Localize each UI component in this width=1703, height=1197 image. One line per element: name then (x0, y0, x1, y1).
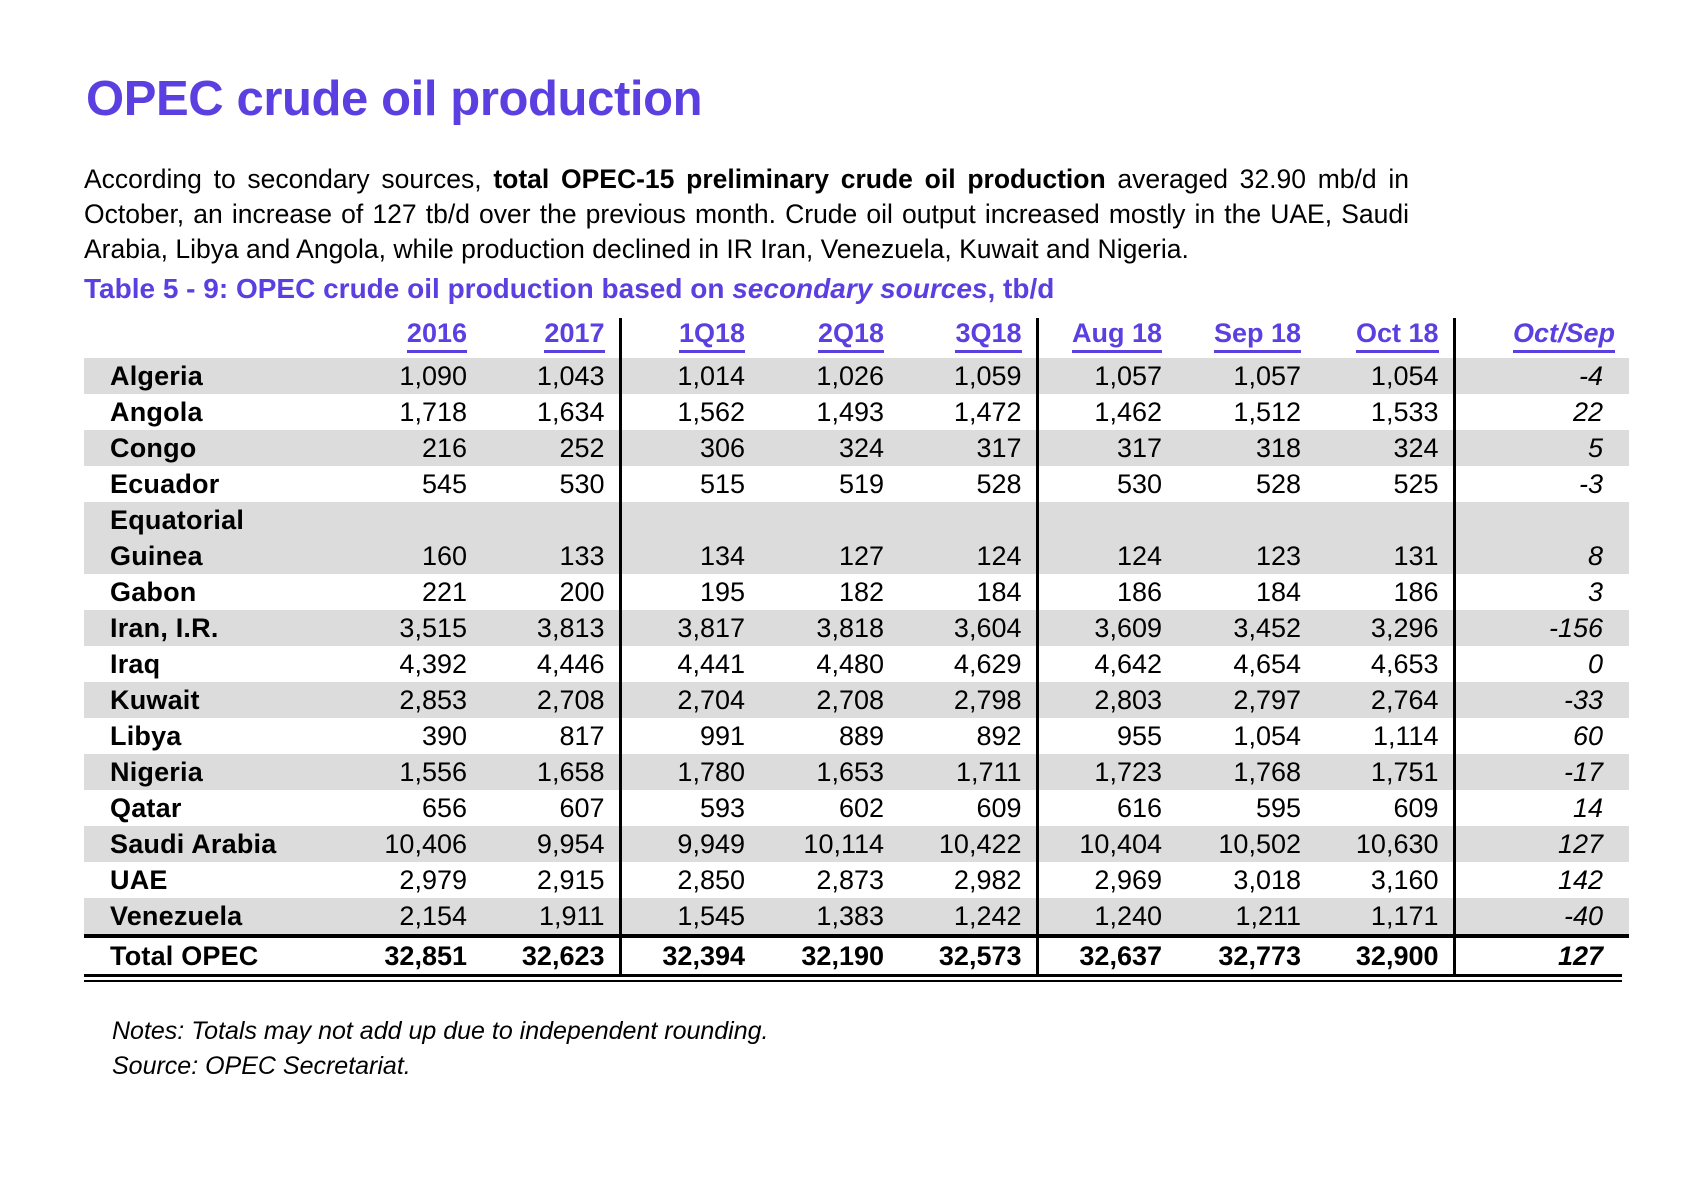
cell-value: 1,718 (342, 394, 481, 430)
cell-value: 1,780 (620, 754, 759, 790)
cell-value: 4,441 (620, 646, 759, 682)
table-row: Congo2162523063243173173183245 (84, 430, 1629, 466)
cell-value: 131 (1315, 538, 1454, 574)
cell-value: 616 (1037, 790, 1176, 826)
cell-value: 3,817 (620, 610, 759, 646)
cell-value: 317 (898, 430, 1037, 466)
cell-delta: -3 (1454, 466, 1629, 502)
table-caption: Table 5 - 9: OPEC crude oil production b… (84, 273, 1054, 305)
table-caption-italic: secondary sources (732, 273, 987, 304)
cell-value: 1,114 (1315, 718, 1454, 754)
table-row: Venezuela2,1541,9111,5451,3831,2421,2401… (84, 898, 1629, 936)
table-header-row: 2016 2017 1Q18 2Q18 3Q18 Aug 18 Sep 18 O… (84, 318, 1629, 358)
cell-total-value: 32,190 (759, 936, 898, 974)
cell-value: 595 (1176, 790, 1315, 826)
cell-value: 2,979 (342, 862, 481, 898)
cell-value: 1,653 (759, 754, 898, 790)
cell-total-value: 32,637 (1037, 936, 1176, 974)
table-row: Ecuador545530515519528530528525-3 (84, 466, 1629, 502)
col-header-2q18: 2Q18 (759, 318, 898, 358)
cell-value: 2,154 (342, 898, 481, 936)
cell-value: 10,422 (898, 826, 1037, 862)
table-row: Gabon2212001951821841861841863 (84, 574, 1629, 610)
cell-total-value: 32,773 (1176, 936, 1315, 974)
cell-value: 2,764 (1315, 682, 1454, 718)
cell-value: 1,043 (481, 358, 620, 394)
cell-value: 1,054 (1315, 358, 1454, 394)
cell-value (481, 502, 620, 538)
notes-line-1: Notes: Totals may not add up due to inde… (112, 1014, 769, 1049)
col-header-3q18: 3Q18 (898, 318, 1037, 358)
cell-value: 609 (898, 790, 1037, 826)
table-row: Saudi Arabia10,4069,9549,94910,11410,422… (84, 826, 1629, 862)
cell-delta: 60 (1454, 718, 1629, 754)
col-header-oct18: Oct 18 (1315, 318, 1454, 358)
cell-delta: 5 (1454, 430, 1629, 466)
cell-value: 124 (898, 538, 1037, 574)
production-table-container: 2016 2017 1Q18 2Q18 3Q18 Aug 18 Sep 18 O… (84, 318, 1622, 974)
cell-country-name: Kuwait (84, 682, 342, 718)
notes-line-2: Source: OPEC Secretariat. (112, 1049, 769, 1084)
cell-value: 1,057 (1037, 358, 1176, 394)
document-page: OPEC crude oil production According to s… (0, 0, 1703, 1197)
cell-value: 184 (898, 574, 1037, 610)
cell-value: 2,873 (759, 862, 898, 898)
cell-value: 216 (342, 430, 481, 466)
cell-value: 889 (759, 718, 898, 754)
cell-value: 1,057 (1176, 358, 1315, 394)
cell-value (1315, 502, 1454, 538)
cell-value: 515 (620, 466, 759, 502)
table-bottom-rule-secondary (84, 980, 1622, 982)
cell-value: 127 (759, 538, 898, 574)
cell-value: 4,653 (1315, 646, 1454, 682)
intro-text-bold: total OPEC-15 preliminary crude oil prod… (493, 164, 1105, 194)
cell-value: 10,406 (342, 826, 481, 862)
cell-value: 324 (1315, 430, 1454, 466)
cell-value: 184 (1176, 574, 1315, 610)
cell-value: 2,708 (481, 682, 620, 718)
table-row: Iran, I.R.3,5153,8133,8173,8183,6043,609… (84, 610, 1629, 646)
cell-delta: 142 (1454, 862, 1629, 898)
table-row: Libya3908179918898929551,0541,11460 (84, 718, 1629, 754)
col-header-sep18: Sep 18 (1176, 318, 1315, 358)
cell-country-name: Equatorial (84, 502, 342, 538)
cell-value: 124 (1037, 538, 1176, 574)
cell-value: 9,949 (620, 826, 759, 862)
cell-value: 1,562 (620, 394, 759, 430)
cell-value (342, 502, 481, 538)
cell-delta: 14 (1454, 790, 1629, 826)
cell-value: 4,446 (481, 646, 620, 682)
cell-country-name: Ecuador (84, 466, 342, 502)
cell-value: 1,711 (898, 754, 1037, 790)
cell-value: 1,768 (1176, 754, 1315, 790)
cell-value: 1,911 (481, 898, 620, 936)
cell-value: 593 (620, 790, 759, 826)
cell-value: 1,533 (1315, 394, 1454, 430)
cell-value: 10,630 (1315, 826, 1454, 862)
cell-value: 3,818 (759, 610, 898, 646)
cell-value: 3,018 (1176, 862, 1315, 898)
cell-value: 252 (481, 430, 620, 466)
cell-value: 1,242 (898, 898, 1037, 936)
cell-value: 160 (342, 538, 481, 574)
cell-value: 817 (481, 718, 620, 754)
cell-value: 1,634 (481, 394, 620, 430)
cell-value: 1,751 (1315, 754, 1454, 790)
cell-value: 1,723 (1037, 754, 1176, 790)
cell-value: 2,708 (759, 682, 898, 718)
cell-value: 4,392 (342, 646, 481, 682)
cell-country-name: UAE (84, 862, 342, 898)
table-bottom-rule (84, 974, 1622, 977)
cell-delta: -40 (1454, 898, 1629, 936)
cell-value: 134 (620, 538, 759, 574)
cell-total-label: Total OPEC (84, 936, 342, 974)
table-notes: Notes: Totals may not add up due to inde… (112, 1014, 769, 1084)
table-row: Qatar65660759360260961659560914 (84, 790, 1629, 826)
cell-value: 3,604 (898, 610, 1037, 646)
cell-delta: 3 (1454, 574, 1629, 610)
table-caption-prefix: Table 5 - 9: OPEC crude oil production b… (84, 273, 732, 304)
cell-value: 390 (342, 718, 481, 754)
cell-value: 200 (481, 574, 620, 610)
cell-value: 1,054 (1176, 718, 1315, 754)
table-row: UAE2,9792,9152,8502,8732,9822,9693,0183,… (84, 862, 1629, 898)
table-caption-suffix: , tb/d (987, 273, 1054, 304)
cell-value (1037, 502, 1176, 538)
cell-value: 186 (1315, 574, 1454, 610)
table-row: Algeria1,0901,0431,0141,0261,0591,0571,0… (84, 358, 1629, 394)
cell-value: 1,014 (620, 358, 759, 394)
cell-total-value: 32,573 (898, 936, 1037, 974)
col-header-country (84, 318, 342, 358)
table-row: Iraq4,3924,4464,4414,4804,6294,6424,6544… (84, 646, 1629, 682)
cell-value: 1,512 (1176, 394, 1315, 430)
cell-value: 1,240 (1037, 898, 1176, 936)
cell-value: 519 (759, 466, 898, 502)
cell-delta (1454, 502, 1629, 538)
cell-value: 10,404 (1037, 826, 1176, 862)
col-header-1q18: 1Q18 (620, 318, 759, 358)
cell-value: 2,704 (620, 682, 759, 718)
cell-country-name: Congo (84, 430, 342, 466)
cell-delta: 0 (1454, 646, 1629, 682)
cell-value: 955 (1037, 718, 1176, 754)
table-row: Nigeria1,5561,6581,7801,6531,7111,7231,7… (84, 754, 1629, 790)
cell-country-name: Venezuela (84, 898, 342, 936)
cell-value: 530 (1037, 466, 1176, 502)
cell-value: 3,452 (1176, 610, 1315, 646)
cell-value: 4,654 (1176, 646, 1315, 682)
opec-production-table: 2016 2017 1Q18 2Q18 3Q18 Aug 18 Sep 18 O… (84, 318, 1629, 974)
cell-value (1176, 502, 1315, 538)
cell-country-name: Qatar (84, 790, 342, 826)
cell-value: 306 (620, 430, 759, 466)
cell-value: 656 (342, 790, 481, 826)
col-header-2017: 2017 (481, 318, 620, 358)
cell-value: 4,480 (759, 646, 898, 682)
cell-country-name: Nigeria (84, 754, 342, 790)
cell-delta: 22 (1454, 394, 1629, 430)
cell-value (620, 502, 759, 538)
cell-value: 1,658 (481, 754, 620, 790)
cell-value: 4,642 (1037, 646, 1176, 682)
cell-value: 1,090 (342, 358, 481, 394)
cell-value: 991 (620, 718, 759, 754)
cell-value: 1,026 (759, 358, 898, 394)
cell-value: 4,629 (898, 646, 1037, 682)
cell-value: 195 (620, 574, 759, 610)
cell-total-value: 32,623 (481, 936, 620, 974)
cell-value: 892 (898, 718, 1037, 754)
cell-delta: -156 (1454, 610, 1629, 646)
cell-value: 1,556 (342, 754, 481, 790)
table-row: Angola1,7181,6341,5621,4931,4721,4621,51… (84, 394, 1629, 430)
cell-value: 186 (1037, 574, 1176, 610)
cell-delta: -17 (1454, 754, 1629, 790)
cell-value: 1,383 (759, 898, 898, 936)
cell-value (759, 502, 898, 538)
cell-value: 2,853 (342, 682, 481, 718)
table-row: Guinea1601331341271241241231318 (84, 538, 1629, 574)
cell-value: 2,803 (1037, 682, 1176, 718)
cell-total-value: 32,900 (1315, 936, 1454, 974)
cell-value: 2,982 (898, 862, 1037, 898)
cell-country-name: Saudi Arabia (84, 826, 342, 862)
col-header-aug18: Aug 18 (1037, 318, 1176, 358)
cell-delta: -33 (1454, 682, 1629, 718)
cell-value: 1,171 (1315, 898, 1454, 936)
cell-value (898, 502, 1037, 538)
table-body: Algeria1,0901,0431,0141,0261,0591,0571,0… (84, 358, 1629, 974)
cell-value: 2,915 (481, 862, 620, 898)
table-header: 2016 2017 1Q18 2Q18 3Q18 Aug 18 Sep 18 O… (84, 318, 1629, 358)
cell-country-name: Libya (84, 718, 342, 754)
cell-value: 1,472 (898, 394, 1037, 430)
cell-value: 2,798 (898, 682, 1037, 718)
cell-value: 609 (1315, 790, 1454, 826)
cell-value: 3,296 (1315, 610, 1454, 646)
cell-value: 317 (1037, 430, 1176, 466)
cell-country-name: Angola (84, 394, 342, 430)
cell-delta: -4 (1454, 358, 1629, 394)
cell-value: 607 (481, 790, 620, 826)
cell-country-name: Iran, I.R. (84, 610, 342, 646)
cell-value: 123 (1176, 538, 1315, 574)
cell-delta: 8 (1454, 538, 1629, 574)
cell-value: 318 (1176, 430, 1315, 466)
cell-total-value: 32,394 (620, 936, 759, 974)
cell-country-name: Iraq (84, 646, 342, 682)
intro-paragraph: According to secondary sources, total OP… (84, 162, 1409, 267)
cell-value: 2,969 (1037, 862, 1176, 898)
cell-value: 133 (481, 538, 620, 574)
cell-total-delta: 127 (1454, 936, 1629, 974)
cell-country-name: Guinea (84, 538, 342, 574)
cell-value: 9,954 (481, 826, 620, 862)
cell-value: 10,502 (1176, 826, 1315, 862)
cell-value: 10,114 (759, 826, 898, 862)
cell-delta: 127 (1454, 826, 1629, 862)
cell-value: 2,850 (620, 862, 759, 898)
cell-value: 525 (1315, 466, 1454, 502)
cell-value: 3,160 (1315, 862, 1454, 898)
col-header-2016: 2016 (342, 318, 481, 358)
cell-value: 602 (759, 790, 898, 826)
cell-value: 530 (481, 466, 620, 502)
cell-value: 3,813 (481, 610, 620, 646)
cell-country-name: Gabon (84, 574, 342, 610)
cell-country-name: Algeria (84, 358, 342, 394)
cell-value: 324 (759, 430, 898, 466)
cell-value: 3,515 (342, 610, 481, 646)
cell-value: 3,609 (1037, 610, 1176, 646)
cell-value: 545 (342, 466, 481, 502)
cell-value: 1,462 (1037, 394, 1176, 430)
cell-value: 1,211 (1176, 898, 1315, 936)
page-title: OPEC crude oil production (86, 71, 702, 127)
cell-value: 1,545 (620, 898, 759, 936)
col-header-oct-sep: Oct/Sep (1454, 318, 1629, 358)
cell-value: 528 (898, 466, 1037, 502)
cell-value: 182 (759, 574, 898, 610)
cell-value: 1,059 (898, 358, 1037, 394)
table-total-row: Total OPEC32,85132,62332,39432,19032,573… (84, 936, 1629, 974)
cell-value: 1,493 (759, 394, 898, 430)
cell-value: 221 (342, 574, 481, 610)
cell-value: 2,797 (1176, 682, 1315, 718)
intro-text-part1: According to secondary sources, (84, 164, 493, 194)
cell-value: 528 (1176, 466, 1315, 502)
cell-total-value: 32,851 (342, 936, 481, 974)
table-row: Equatorial (84, 502, 1629, 538)
table-row: Kuwait2,8532,7082,7042,7082,7982,8032,79… (84, 682, 1629, 718)
